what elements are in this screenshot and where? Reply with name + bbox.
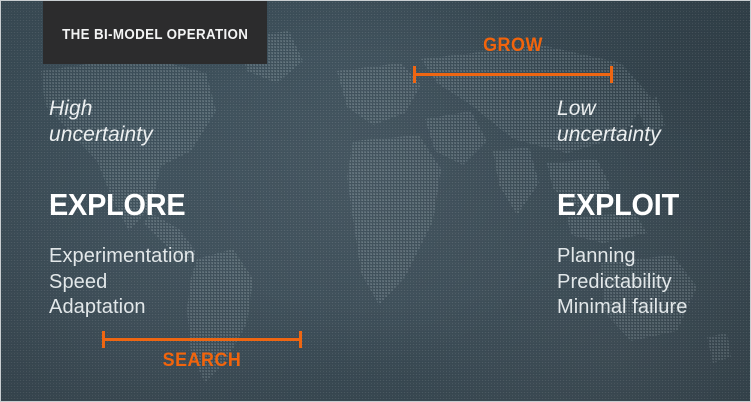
list-item: Minimal failure bbox=[557, 295, 751, 321]
list-item: Planning bbox=[557, 244, 751, 270]
exploit-trait-list: Planning Predictability Minimal failure bbox=[557, 244, 751, 321]
search-bracket-rule bbox=[102, 338, 302, 341]
exploit-uncertainty-line-1: Low bbox=[557, 96, 751, 122]
explore-uncertainty-line-2: uncertainty bbox=[49, 122, 349, 148]
exploit-uncertainty: Low uncertainty bbox=[557, 96, 751, 148]
explore-trait-list: Experimentation Speed Adaptation bbox=[49, 244, 349, 321]
title-badge: THE BI-MODEL OPERATION bbox=[43, 0, 267, 64]
grow-bracket-rule bbox=[413, 73, 613, 76]
grow-bracket-label: GROW bbox=[419, 35, 607, 57]
bi-model-operation-infographic: THE BI-MODEL OPERATION GROW High uncerta… bbox=[0, 0, 751, 402]
explore-column: High uncertainty EXPLORE Experimentation… bbox=[49, 96, 349, 337]
explore-heading: EXPLORE bbox=[49, 188, 328, 222]
exploit-heading: EXPLOIT bbox=[557, 188, 751, 222]
list-item: Predictability bbox=[557, 270, 751, 296]
search-bracket-cap-right bbox=[299, 331, 302, 348]
list-item: Adaptation bbox=[49, 295, 349, 321]
list-item: Experimentation bbox=[49, 244, 349, 270]
page-title: THE BI-MODEL OPERATION bbox=[62, 19, 248, 43]
exploit-column: Low uncertainty EXPLOIT Planning Predict… bbox=[557, 96, 751, 337]
explore-uncertainty-line-1: High bbox=[49, 96, 349, 122]
explore-uncertainty: High uncertainty bbox=[49, 96, 349, 148]
exploit-uncertainty-line-2: uncertainty bbox=[557, 122, 751, 148]
grow-bracket: GROW bbox=[413, 65, 613, 85]
grow-bracket-cap-right bbox=[610, 66, 613, 83]
search-bracket: SEARCH bbox=[102, 330, 302, 350]
search-bracket-label: SEARCH bbox=[108, 350, 296, 372]
list-item: Speed bbox=[49, 270, 349, 296]
